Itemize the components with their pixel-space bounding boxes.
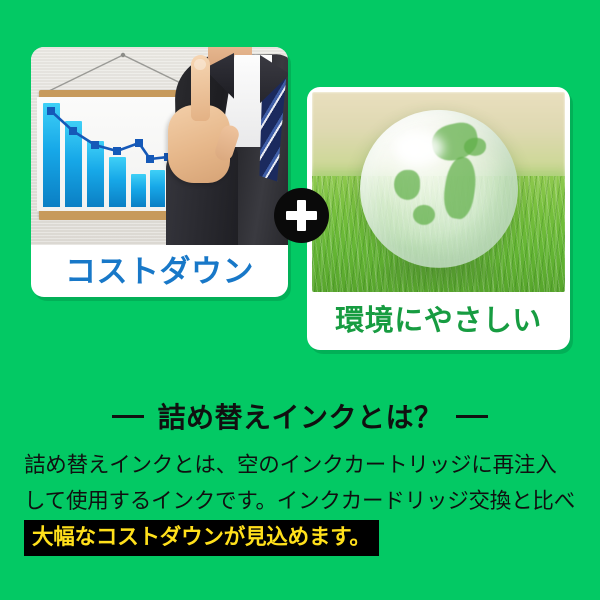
eco-friendly-photo: [312, 92, 565, 292]
body-line-2: して使用するインクです。インクカードリッジ交換と比べ: [24, 483, 584, 519]
plus-icon: [274, 188, 329, 243]
section-body: 詰め替えインクとは、空のインクカートリッジに再注入 して使用するインクです。イン…: [24, 447, 584, 556]
feature-card-eco-friendly[interactable]: 環境にやさしい: [307, 87, 570, 350]
businessman-photo-subject: [166, 47, 288, 245]
promo-banner: コストダウン 環境にやさしい 詰め替えインクとは？ 詰め替えインクとは、空のイン…: [0, 0, 600, 600]
heading-rule-right: [456, 415, 488, 418]
card-label-eco-friendly: 環境にやさしい: [307, 292, 570, 350]
glass-globe-icon: [360, 110, 518, 268]
cost-down-photo: [31, 47, 288, 245]
page-title: 詰め替えインクとは？: [157, 396, 442, 436]
feature-card-cost-down[interactable]: コストダウン: [31, 47, 288, 297]
body-line-1: 詰め替えインクとは、空のインクカートリッジに再注入: [24, 447, 584, 483]
heading-rule-left: [112, 415, 144, 418]
card-label-cost-down: コストダウン: [31, 245, 288, 297]
section-heading: 詰め替えインクとは？: [0, 396, 600, 436]
highlight-text: 大幅なコストダウンが見込めます。: [24, 520, 379, 556]
